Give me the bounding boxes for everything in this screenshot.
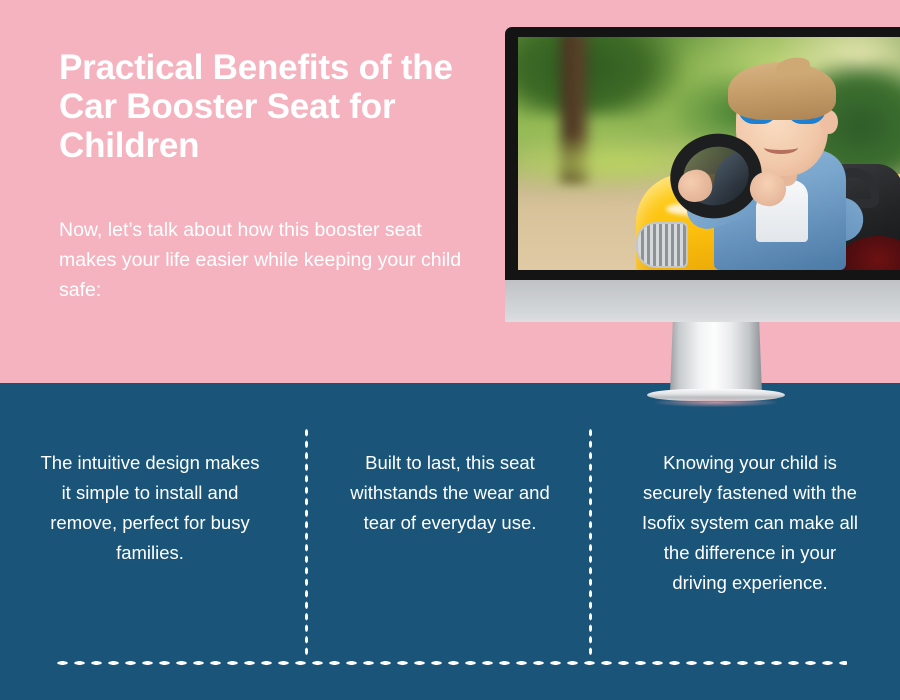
tree-canopy	[518, 37, 683, 117]
monitor-screen	[518, 37, 900, 270]
benefits-columns: The intuitive design makes it simple to …	[0, 448, 900, 598]
monitor-stand-neck	[670, 322, 762, 394]
infographic-poster: Practical Benefits of the Car Booster Se…	[0, 0, 900, 700]
benefit-column-3: Knowing your child is securely fastened …	[600, 448, 900, 598]
child-smile	[764, 141, 798, 154]
toy-car-grille-icon	[636, 222, 688, 268]
monitor-stand-shadow	[655, 398, 777, 407]
monitor-chin	[505, 280, 900, 322]
monitor-illustration	[505, 27, 900, 323]
page-title: Practical Benefits of the Car Booster Se…	[59, 48, 479, 166]
benefit-column-2: Built to last, this seat withstands the …	[300, 448, 600, 598]
park-photo	[518, 37, 900, 270]
bottom-divider	[54, 660, 847, 666]
benefit-column-1: The intuitive design makes it simple to …	[0, 448, 300, 598]
intro-paragraph: Now, let’s talk about how this booster s…	[59, 215, 471, 306]
